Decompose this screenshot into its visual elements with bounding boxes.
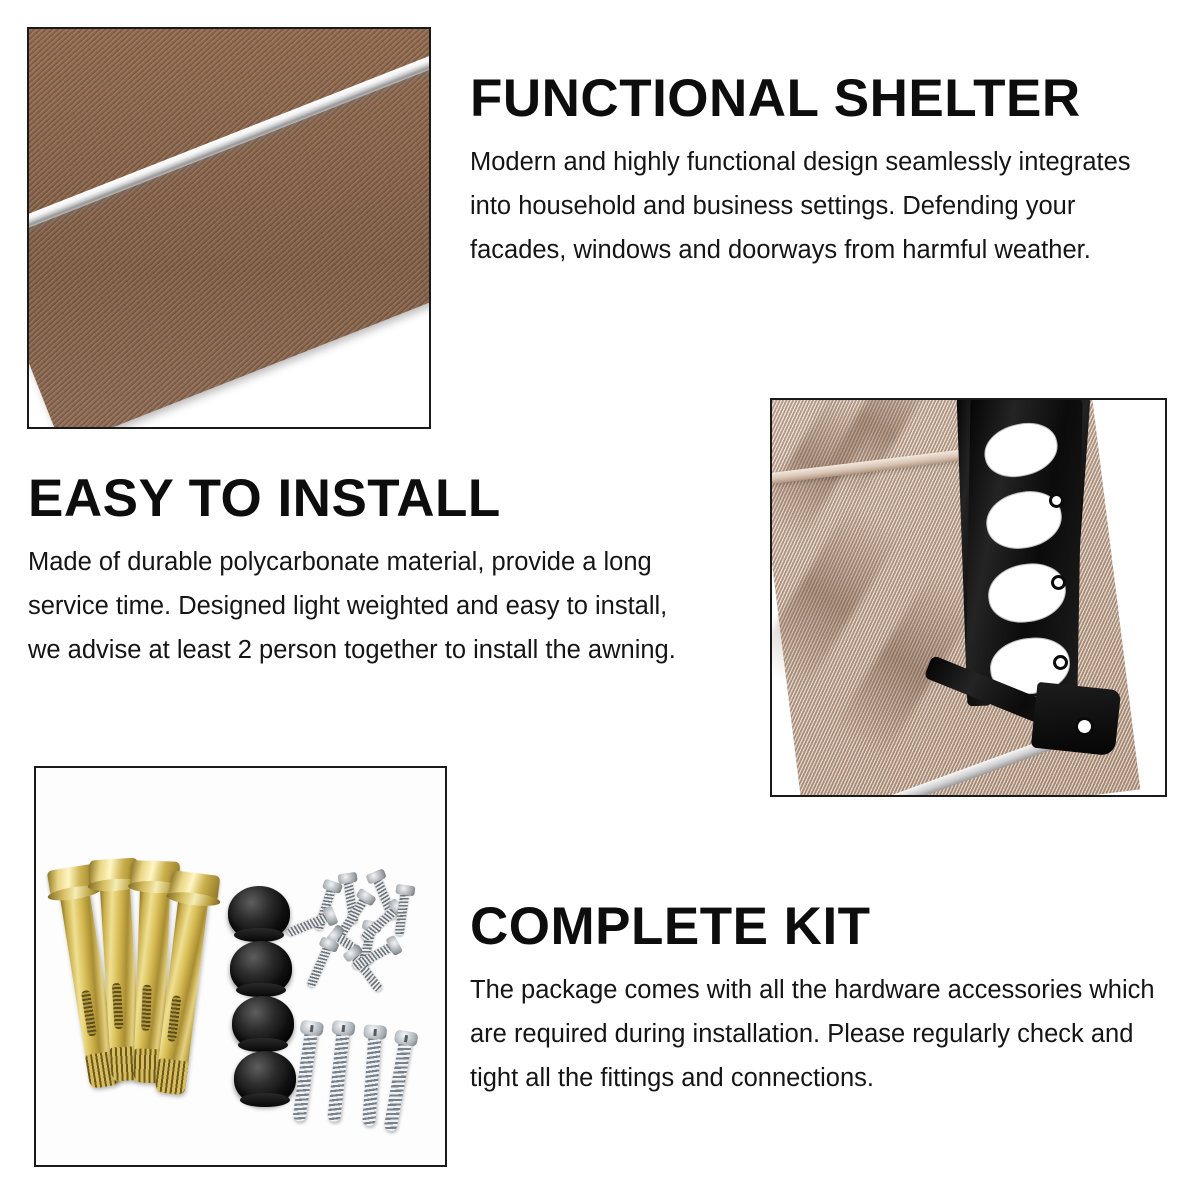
photo-awning-panel	[27, 27, 431, 429]
feature-block-easy-to-install: EASY TO INSTALL Made of durable polycarb…	[28, 472, 708, 673]
feature-block-functional-shelter: FUNCTIONAL SHELTER Modern and highly fun…	[470, 72, 1160, 273]
infographic-canvas: FUNCTIONAL SHELTER Modern and highly fun…	[0, 0, 1200, 1200]
feature-block-complete-kit: COMPLETE KIT The package comes with all …	[470, 900, 1160, 1101]
black-plastic-cap	[232, 996, 294, 1050]
photo-bracket-closeup	[770, 398, 1167, 797]
feature-title-complete-kit: COMPLETE KIT	[470, 900, 1160, 953]
bracket-screw-boss	[1054, 578, 1063, 587]
feature-body-functional-shelter: Modern and highly functional design seam…	[470, 141, 1156, 273]
feature-body-easy-to-install: Made of durable polycarbonate material, …	[28, 541, 688, 673]
bracket-mounting-hole	[1078, 720, 1091, 733]
feature-title-functional-shelter: FUNCTIONAL SHELTER	[470, 72, 1160, 125]
bolt-expansion-slot	[141, 984, 152, 1030]
bracket-foot-pad	[1031, 682, 1121, 756]
bolt-tip	[155, 1058, 189, 1095]
black-plastic-cap	[230, 941, 292, 995]
bolt-expansion-slot	[81, 989, 97, 1036]
feature-body-complete-kit: The package comes with all the hardware …	[470, 969, 1158, 1101]
feature-title-easy-to-install: EASY TO INSTALL	[28, 472, 708, 525]
photo-hardware-kit	[34, 766, 447, 1167]
black-plastic-cap	[228, 886, 290, 940]
bracket-screw-boss	[1056, 658, 1065, 667]
black-plastic-cap	[234, 1051, 296, 1105]
bolt-expansion-slot	[112, 982, 124, 1028]
bolt-expansion-slot	[167, 995, 182, 1042]
bracket-screw-boss	[1052, 496, 1061, 505]
